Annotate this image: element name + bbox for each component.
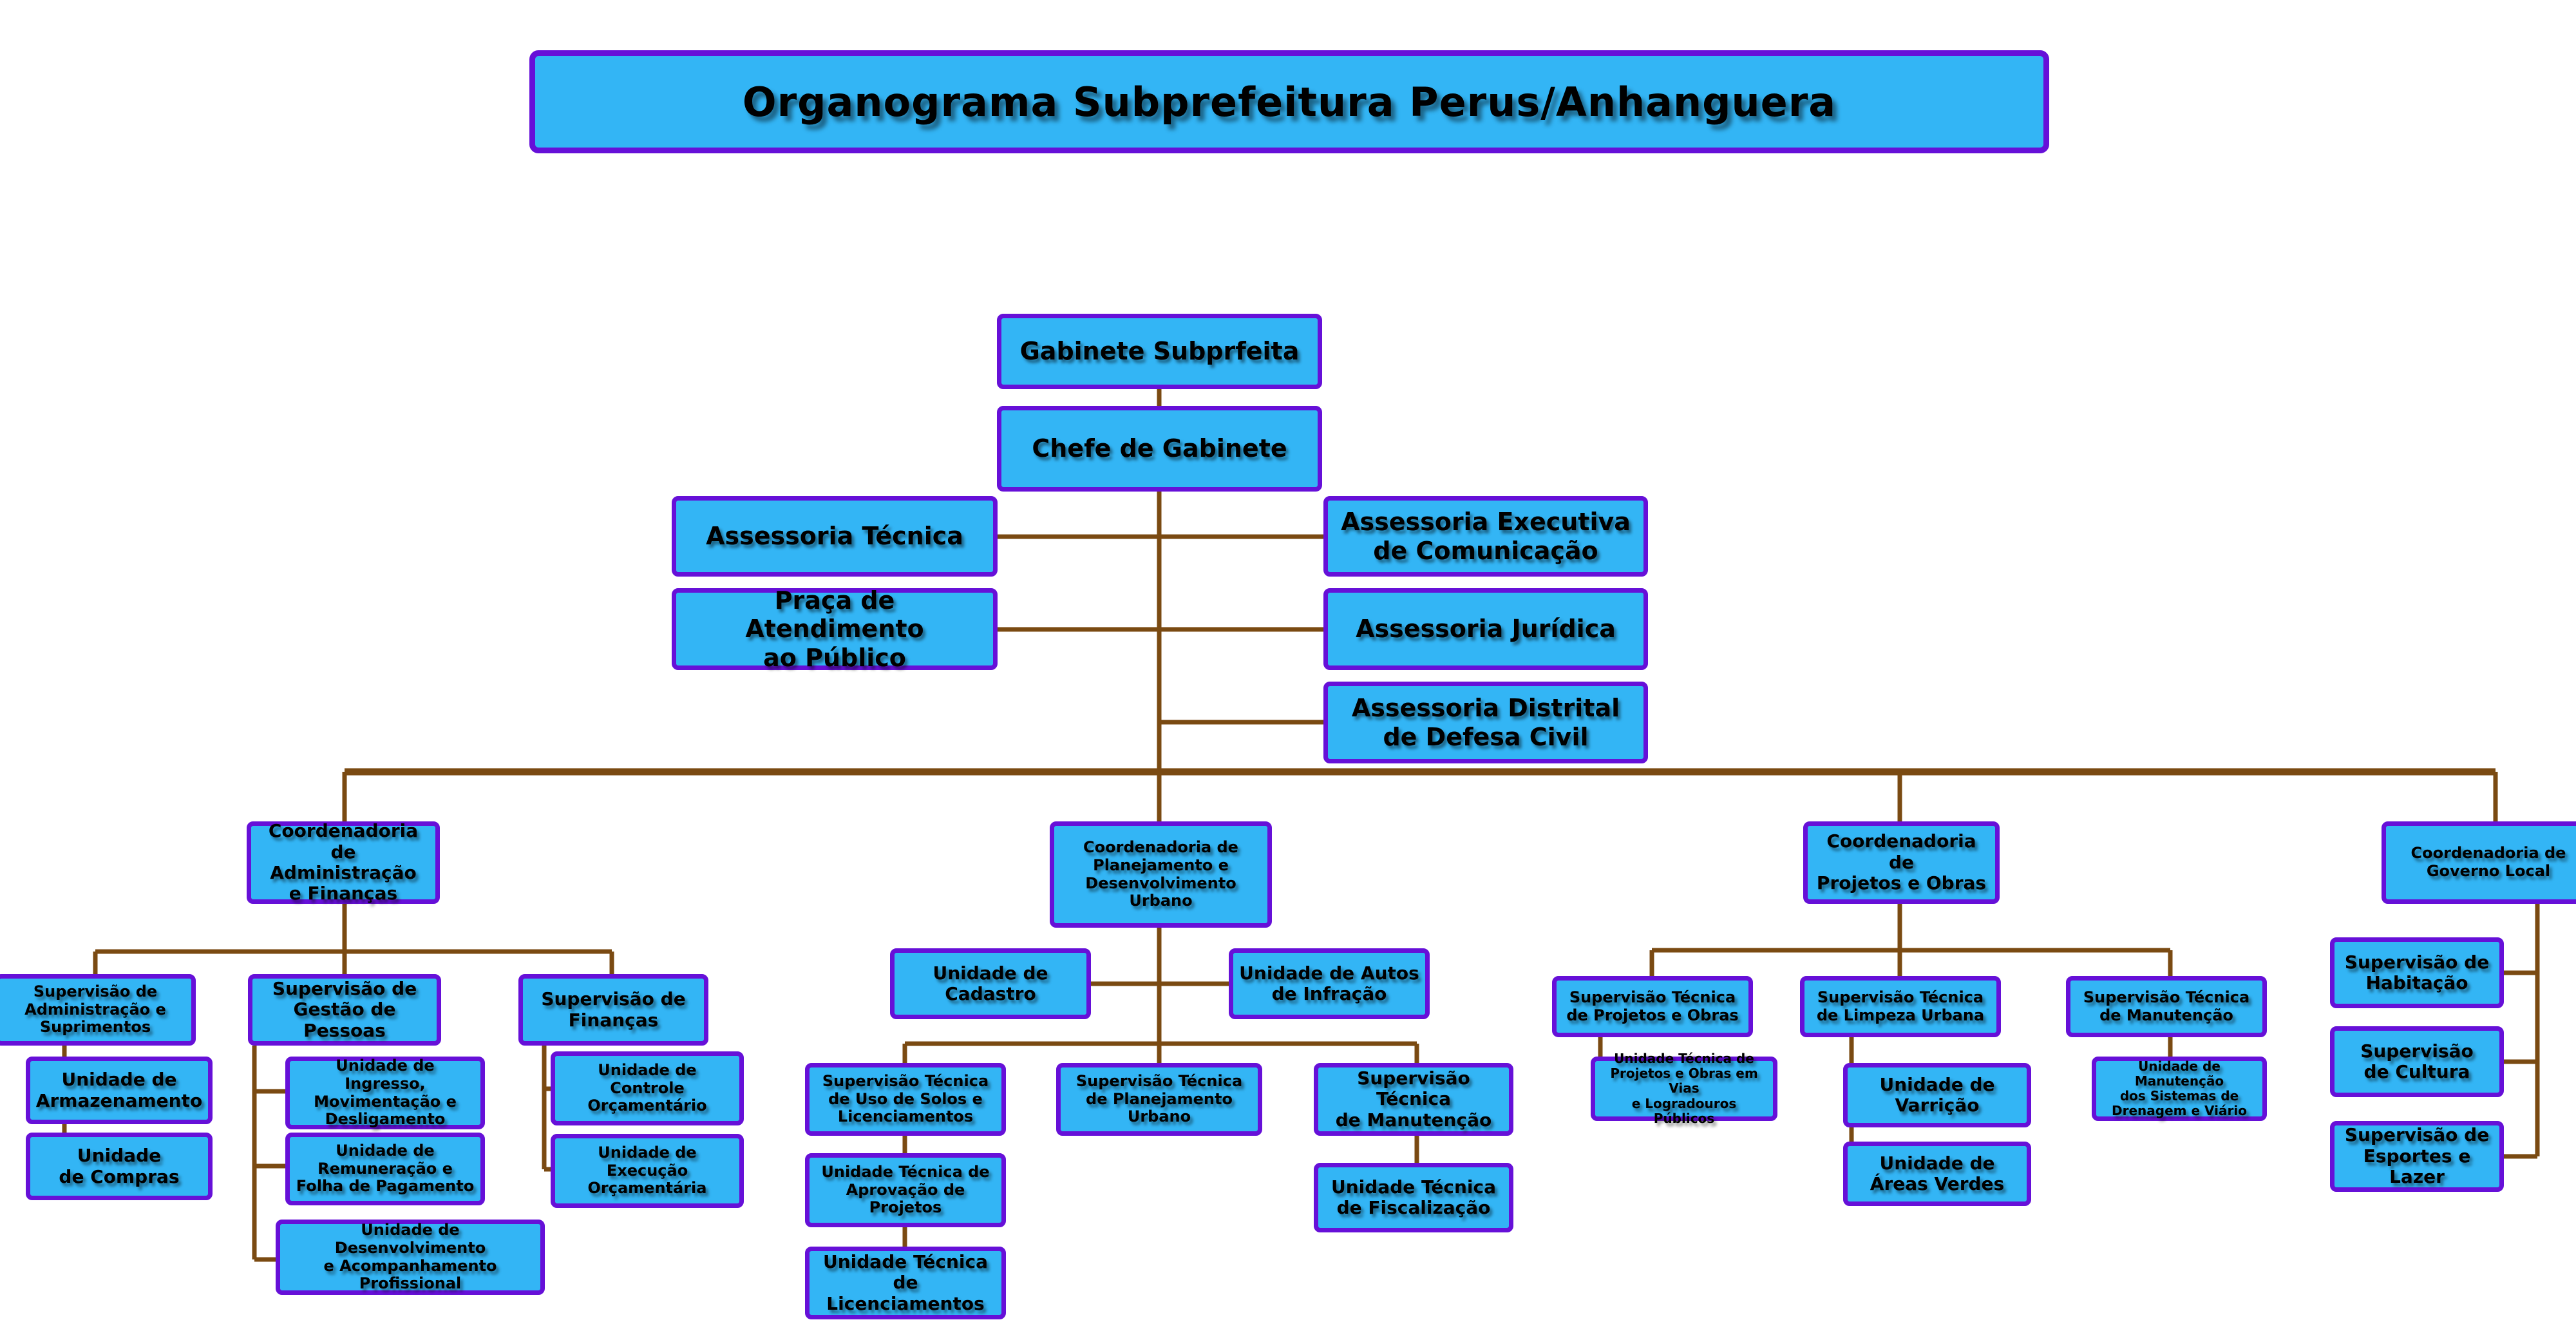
node-unidade-areas-verdes[interactable]: Unidade de Áreas Verdes — [1843, 1142, 2031, 1206]
node-assessoria-juridica[interactable]: Assessoria Jurídica — [1323, 588, 1648, 670]
node-supervisao-tecnica-planejamento-urbano[interactable]: Supervisão Técnica de Planejamento Urban… — [1056, 1063, 1262, 1136]
node-gabinete-subprefeita[interactable]: Gabinete Subprfeita — [997, 314, 1322, 389]
node-unidade-remuneracao-folha-pagamento[interactable]: Unidade de Remuneração e Folha de Pagame… — [285, 1133, 485, 1205]
node-unidade-execucao-orcamentaria[interactable]: Unidade de Execução Orçamentária — [551, 1134, 744, 1208]
node-unidade-autos-infracao[interactable]: Unidade de Autos de Infração — [1229, 948, 1430, 1019]
node-coordenadoria-governo-local[interactable]: Coordenadoria de Governo Local — [2382, 821, 2576, 904]
node-unidade-manutencao-drenagem-viario[interactable]: Unidade de Manutenção dos Sistemas de Dr… — [2092, 1057, 2267, 1121]
node-coordenadoria-administracao-financas[interactable]: Coordenadoria de Administração e Finança… — [247, 821, 440, 904]
node-supervisao-cultura[interactable]: Supervisão de Cultura — [2330, 1026, 2504, 1097]
node-unidade-desenvolvimento-acompanhamento-profissional[interactable]: Unidade de Desenvolvimento e Acompanhame… — [276, 1220, 545, 1295]
node-supervisao-habitacao[interactable]: Supervisão de Habitação — [2330, 937, 2504, 1008]
node-supervisao-esportes-lazer[interactable]: Supervisão de Esportes e Lazer — [2330, 1121, 2504, 1192]
node-praca-de-atendimento-ao-publico[interactable]: Praça de Atendimento ao Público — [672, 588, 998, 670]
node-assessoria-distrital-de-defesa-civil[interactable]: Assessoria Distrital de Defesa Civil — [1323, 682, 1648, 763]
node-unidade-cadastro[interactable]: Unidade de Cadastro — [890, 948, 1091, 1019]
node-unidade-controle-orcamentario[interactable]: Unidade de Controle Orçamentário — [551, 1051, 744, 1125]
node-unidade-armazenamento[interactable]: Unidade de Armazenamento — [26, 1057, 213, 1124]
page-title: Organograma Subprefeitura Perus/Anhangue… — [529, 50, 2049, 153]
node-supervisao-financas[interactable]: Supervisão de Finanças — [518, 974, 708, 1046]
node-supervisao-tecnica-projetos-obras[interactable]: Supervisão Técnica de Projetos e Obras — [1552, 976, 1753, 1037]
node-assessoria-executiva-de-comunicacao[interactable]: Assessoria Executiva de Comunicação — [1323, 496, 1648, 577]
node-unidade-tecnica-projetos-obras-vias-logradouros[interactable]: Unidade Técnica de Projetos e Obras em V… — [1591, 1057, 1777, 1121]
node-supervisao-administracao-suprimentos[interactable]: Supervisão de Administração e Suprimento… — [0, 974, 196, 1046]
node-coordenadoria-projetos-obras[interactable]: Coordenadoria de Projetos e Obras — [1803, 821, 2000, 904]
node-chefe-de-gabinete[interactable]: Chefe de Gabinete — [997, 406, 1322, 492]
node-supervisao-tecnica-uso-solos-licenciamentos[interactable]: Supervisão Técnica de Uso de Solos e Lic… — [805, 1063, 1006, 1136]
node-supervisao-gestao-pessoas[interactable]: Supervisão de Gestão de Pessoas — [248, 974, 441, 1046]
organogram-canvas: Organograma Subprefeitura Perus/Anhangue… — [0, 0, 2576, 1340]
node-assessoria-tecnica[interactable]: Assessoria Técnica — [672, 496, 998, 577]
node-coordenadoria-planejamento-desenvolvimento-urbano[interactable]: Coordenadoria de Planejamento e Desenvol… — [1050, 821, 1272, 928]
node-unidade-ingresso-movimentacao-desligamento[interactable]: Unidade de Ingresso, Movimentação e Desl… — [285, 1057, 485, 1129]
node-supervisao-tecnica-limpeza-urbana[interactable]: Supervisão Técnica de Limpeza Urbana — [1800, 976, 2001, 1037]
node-unidade-tecnica-aprovacao-projetos[interactable]: Unidade Técnica de Aprovação de Projetos — [805, 1153, 1006, 1227]
node-unidade-varricao[interactable]: Unidade de Varrição — [1843, 1063, 2031, 1127]
node-unidade-tecnica-fiscalizacao[interactable]: Unidade Técnica de Fiscalização — [1314, 1163, 1513, 1232]
node-supervisao-tecnica-manutencao-pdu[interactable]: Supervisão Técnica de Manutenção — [1314, 1063, 1513, 1136]
node-supervisao-tecnica-manutencao-obras[interactable]: Supervisão Técnica de Manutenção — [2066, 976, 2267, 1037]
node-unidade-tecnica-licenciamentos[interactable]: Unidade Técnica de Licenciamentos — [805, 1247, 1006, 1319]
node-unidade-compras[interactable]: Unidade de Compras — [26, 1133, 213, 1200]
